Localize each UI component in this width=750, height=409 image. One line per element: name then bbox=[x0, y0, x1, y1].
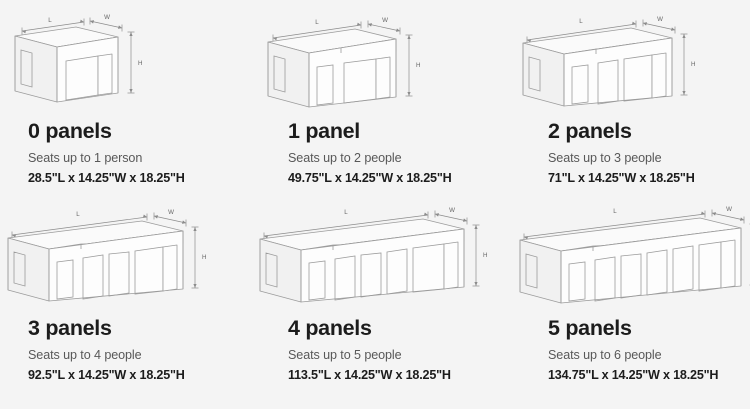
label-height: H bbox=[483, 252, 487, 259]
label-width: W bbox=[168, 209, 174, 216]
caption-1-panel: 1 panel Seats up to 2 people 49.75"L x 1… bbox=[288, 121, 452, 185]
config-seats: Seats up to 6 people bbox=[548, 349, 718, 362]
config-grid: L W H bbox=[0, 0, 750, 403]
caption-3-panels: 3 panels Seats up to 4 people 92.5"L x 1… bbox=[28, 318, 185, 382]
config-card-0-panels: L W H bbox=[0, 9, 260, 206]
label-length: L bbox=[315, 19, 319, 26]
table-body bbox=[523, 28, 672, 106]
table-diagram-0-panels: L W H bbox=[0, 9, 260, 117]
caption-0-panels: 0 panels Seats up to 1 person 28.5"L x 1… bbox=[28, 121, 185, 185]
config-dimensions: 113.5"L x 14.25"W x 18.25"H bbox=[288, 369, 451, 382]
label-width: W bbox=[382, 17, 388, 24]
label-length: L bbox=[579, 18, 583, 25]
config-card-1-panel: L W H bbox=[260, 9, 520, 206]
label-height: H bbox=[202, 254, 206, 261]
table-diagram-3-panels: L W H bbox=[0, 206, 260, 314]
label-width: W bbox=[449, 207, 455, 214]
table-body bbox=[8, 221, 183, 301]
label-length: L bbox=[76, 211, 80, 218]
config-card-3-panels: L W H bbox=[0, 206, 260, 403]
isometric-table-illustration: L W H bbox=[520, 206, 750, 314]
label-height: H bbox=[691, 61, 695, 68]
caption-5-panels: 5 panels Seats up to 6 people 134.75"L x… bbox=[548, 318, 718, 382]
isometric-table-illustration: L W H bbox=[0, 206, 240, 314]
config-dimensions: 49.75"L x 14.25"W x 18.25"H bbox=[288, 172, 452, 185]
table-diagram-1-panel: L W H bbox=[260, 9, 520, 117]
table-body bbox=[260, 219, 464, 302]
label-width: W bbox=[726, 206, 732, 213]
config-card-5-panels: L W H bbox=[520, 206, 750, 403]
config-title: 1 panel bbox=[288, 121, 452, 143]
config-dimensions: 71"L x 14.25"W x 18.25"H bbox=[548, 172, 695, 185]
isometric-table-illustration: L W H bbox=[520, 9, 735, 117]
caption-4-panels: 4 panels Seats up to 5 people 113.5"L x … bbox=[288, 318, 451, 382]
isometric-table-illustration: L W H bbox=[260, 206, 510, 314]
table-body bbox=[520, 218, 741, 303]
label-length: L bbox=[48, 17, 52, 24]
table-diagram-2-panels: L W H bbox=[520, 9, 750, 117]
config-title: 4 panels bbox=[288, 318, 451, 340]
label-length: L bbox=[613, 208, 617, 215]
label-height: H bbox=[416, 62, 420, 69]
config-card-2-panels: L W H bbox=[520, 9, 750, 206]
label-height: H bbox=[138, 60, 142, 67]
table-body bbox=[15, 27, 118, 102]
config-seats: Seats up to 1 person bbox=[28, 152, 185, 165]
config-title: 3 panels bbox=[28, 318, 185, 340]
caption-2-panels: 2 panels Seats up to 3 people 71"L x 14.… bbox=[548, 121, 695, 185]
table-body bbox=[268, 29, 396, 107]
isometric-table-illustration: L W H bbox=[0, 9, 230, 117]
label-width: W bbox=[104, 14, 110, 21]
table-diagram-5-panels: L W H bbox=[520, 206, 750, 314]
config-seats: Seats up to 4 people bbox=[28, 349, 185, 362]
config-title: 2 panels bbox=[548, 121, 695, 143]
config-seats: Seats up to 3 people bbox=[548, 152, 695, 165]
config-seats: Seats up to 2 people bbox=[288, 152, 452, 165]
config-dimensions: 92.5"L x 14.25"W x 18.25"H bbox=[28, 369, 185, 382]
config-title: 5 panels bbox=[548, 318, 718, 340]
config-dimensions: 134.75"L x 14.25"W x 18.25"H bbox=[548, 369, 718, 382]
label-length: L bbox=[344, 209, 348, 216]
config-title: 0 panels bbox=[28, 121, 185, 143]
expandable-table-size-chart: L W H bbox=[0, 0, 750, 409]
config-seats: Seats up to 5 people bbox=[288, 349, 451, 362]
label-width: W bbox=[657, 16, 663, 23]
isometric-table-illustration: L W H bbox=[260, 9, 490, 117]
config-dimensions: 28.5"L x 14.25"W x 18.25"H bbox=[28, 172, 185, 185]
config-card-4-panels: L W H bbox=[260, 206, 520, 403]
table-diagram-4-panels: L W H bbox=[260, 206, 520, 314]
